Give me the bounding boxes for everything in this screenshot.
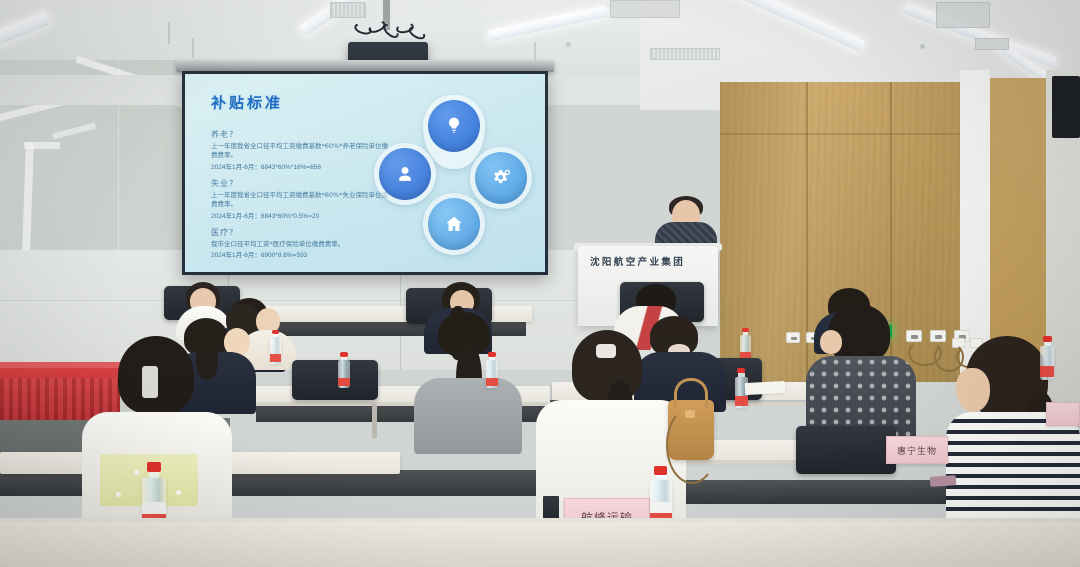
- slide-pin-right: [475, 152, 527, 204]
- slide-section-0-label: 养老?: [211, 129, 391, 140]
- slide-section-1-label: 失业?: [211, 178, 391, 189]
- water-bottle-front-3: [1040, 336, 1054, 380]
- bottle-cap: [654, 466, 667, 475]
- attendee-mid-1-ponytail: [196, 340, 218, 380]
- slide-section-1-text: 上一年度我省全口径平均工资缴费基数*60%*失业保险单位缴费费率。: [211, 191, 391, 210]
- water-bottle-mid-1: [338, 352, 350, 388]
- ceiling-vent-2: [610, 0, 680, 18]
- slide-section-2-text: 我市全口径平均工资*医疗保险单位缴费费率。: [211, 240, 391, 249]
- bottle-label: [735, 396, 748, 406]
- table-row3-leg-1: [372, 404, 377, 438]
- podium-sign-text: 沈阳航空产业集团: [590, 254, 685, 268]
- slide-pin-left: [379, 148, 431, 200]
- slide-pin-top: [428, 100, 480, 152]
- ceiling-hanger-rod-2: [192, 38, 194, 58]
- ceiling-vent-5: [975, 38, 1009, 50]
- wood-seam-3: [720, 133, 986, 135]
- slide-section-2-calc: 2024年1月-6月：6900*8.6%=593: [211, 249, 391, 259]
- handbag-strap: [674, 378, 708, 408]
- slide-icon-cluster: [379, 100, 529, 250]
- bottle-label: [1040, 366, 1054, 377]
- attendee-front-2-hairclip: [596, 344, 616, 358]
- bottle-label-white: [142, 502, 166, 514]
- slide-title: 补贴标准: [210, 92, 283, 113]
- mobile-phone: [930, 475, 957, 487]
- projection-screen: 补贴标准 养老? 上一年度我省全口径平均工资缴费基数*60%*养老保险单位缴费费…: [185, 74, 545, 272]
- attendee-mid-4-head: [820, 330, 842, 354]
- table-row1-front: [0, 520, 1080, 567]
- ceiling-vent-3: [650, 48, 720, 60]
- slide-body: 养老? 上一年度我省全口径平均工资缴费基数*60%*养老保险单位缴费费率。 20…: [211, 122, 391, 259]
- shirt-print-flower-3: [176, 490, 181, 495]
- chair-row3-1[interactable]: [292, 360, 378, 400]
- wood-panel-wall-right: [986, 78, 1046, 378]
- chair-row2-2[interactable]: [796, 426, 896, 474]
- handout-paper-1: [745, 381, 786, 395]
- handbag-shoulder-strap: [666, 406, 718, 484]
- ceiling-sensor-2: [920, 44, 925, 49]
- slide-section-0-calc: 2024年1月-6月：6843*60%*16%=656: [211, 161, 391, 171]
- wall-outlet-1[interactable]: [786, 332, 800, 343]
- ceiling-vent-1: [330, 2, 366, 18]
- name-card-partial-right: [1046, 402, 1080, 426]
- bottle-label-white: [650, 502, 672, 513]
- bottle-label: [270, 354, 281, 362]
- glass-reflection-5: [24, 142, 60, 149]
- wall-outlet-4[interactable]: [930, 330, 946, 342]
- projection-screen-frame: 补贴标准 养老? 上一年度我省全口径平均工资缴费基数*60%*养老保险单位缴费费…: [182, 71, 548, 275]
- name-card-huining: 惠宁生物: [886, 436, 948, 464]
- attendee-front-2-hair: [572, 330, 642, 402]
- water-bottle-back-1: [270, 330, 281, 364]
- lightbulb-icon: [428, 100, 480, 152]
- ceiling-hanger-rod-3: [534, 42, 536, 60]
- person-icon: [379, 148, 431, 200]
- ceiling-sensor-1: [566, 42, 571, 47]
- table-row1-edge: [0, 518, 1080, 522]
- attendee-mid-2-torso: [414, 378, 522, 454]
- gear-icon: [475, 152, 527, 204]
- shirt-print-flower-1: [134, 470, 139, 475]
- attendee-front-3-head: [956, 368, 990, 412]
- home-icon: [428, 198, 480, 250]
- bottle-cap: [147, 462, 161, 472]
- ceiling-hanger-rod-1: [168, 22, 170, 44]
- slide-section-0-text: 上一年度我省全口径平均工资缴费基数*60%*养老保险单位缴费费率。: [211, 142, 391, 161]
- water-bottle-mid-2: [486, 352, 498, 388]
- back-wall-seam-3: [0, 300, 580, 301]
- slide-pin-bottom: [428, 198, 480, 250]
- slide-section-2-label: 医疗?: [211, 227, 391, 238]
- name-card-huining-text: 惠宁生物: [897, 444, 937, 457]
- bottle-label: [486, 378, 498, 386]
- attendee-front-1-hairclip: [142, 366, 158, 398]
- conference-room-photo: EXIT 补贴标准 养老? 上一年度我省全口径平均工资缴费基数*60%*养老保险…: [0, 0, 1080, 567]
- ceiling-vent-4: [936, 2, 990, 28]
- shirt-print-flower-2: [116, 492, 121, 497]
- bottle-label: [338, 378, 350, 386]
- water-bottle-back-2: [740, 328, 751, 362]
- wall-display-panel: [1052, 76, 1080, 138]
- slide-section-1-calc: 2024年1月-6月：6843*60%*0.5%=20: [211, 210, 391, 220]
